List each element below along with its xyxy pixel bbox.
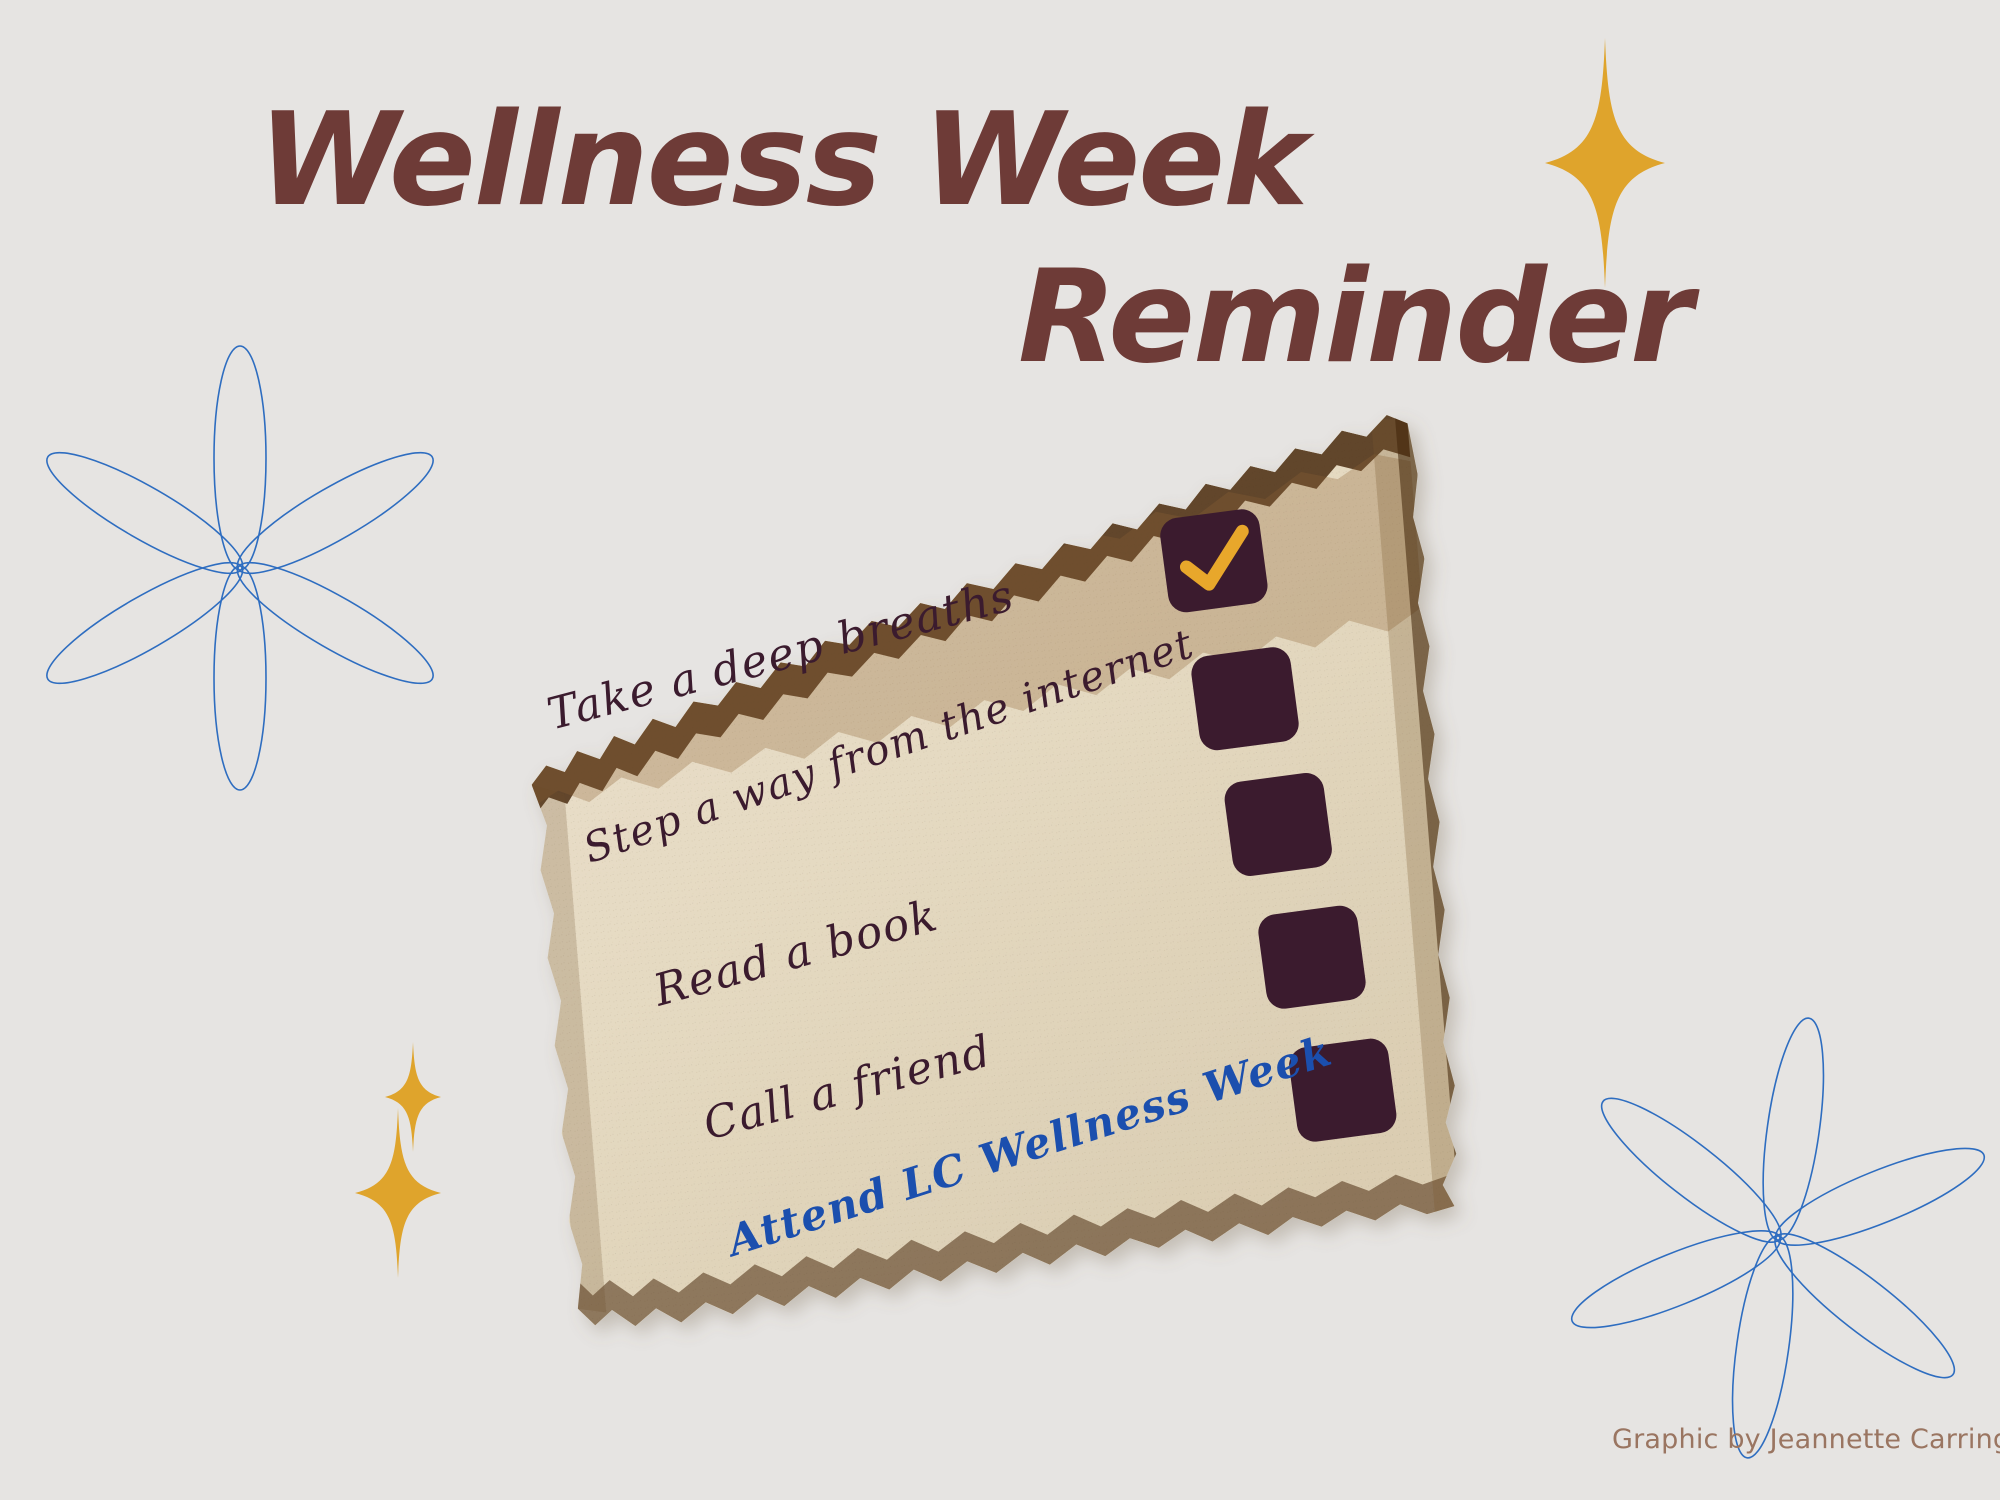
flower-icon <box>40 368 440 768</box>
page-title: Wellness Week Reminder <box>0 96 1700 383</box>
torn-paper-note: Take a deep breaths Step a way from the … <box>492 394 1498 1445</box>
sparkle-icon <box>355 1108 441 1278</box>
title-line-2: Reminder <box>0 253 1700 384</box>
credit-text: Graphic by Jeannette Carrington <box>1612 1424 2000 1455</box>
title-line-1: Wellness Week <box>0 96 1700 227</box>
flower-icon <box>1578 1038 1978 1438</box>
sparkle-icon <box>1545 38 1665 288</box>
poster-canvas: Wellness Week Reminder <box>0 0 2000 1500</box>
